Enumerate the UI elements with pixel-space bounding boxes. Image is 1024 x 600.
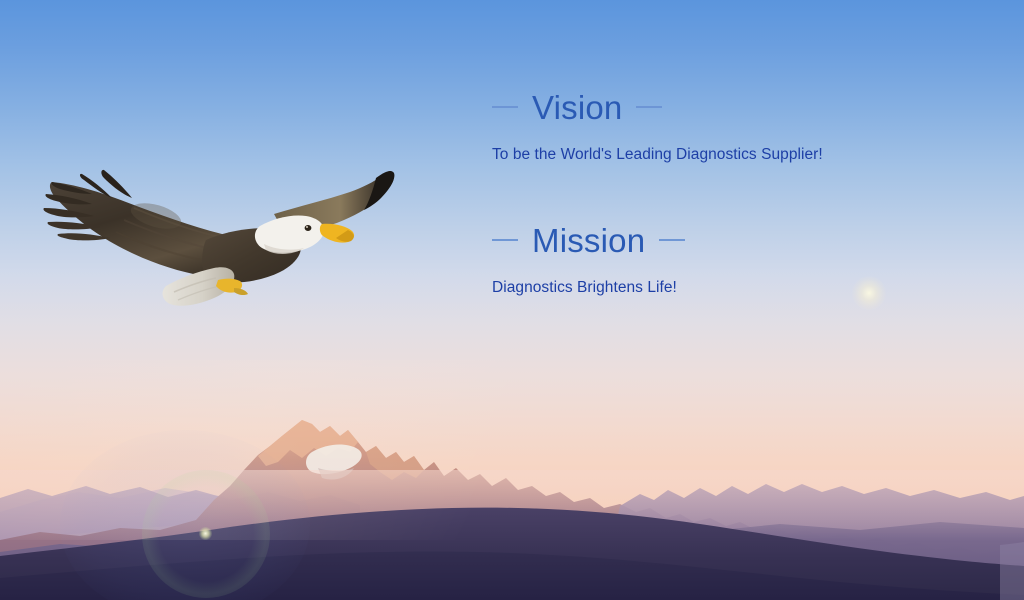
bald-eagle-icon — [38, 168, 400, 316]
mission-heading: Mission — [532, 224, 645, 257]
vision-heading: Vision — [532, 91, 622, 124]
mission-block: Mission Diagnostics Brightens Life! — [492, 219, 962, 297]
mission-dash-right-icon — [659, 239, 685, 241]
vision-heading-row: Vision — [492, 86, 962, 128]
copy-block: Vision To be the World's Leading Diagnos… — [492, 86, 962, 298]
mission-heading-row: Mission — [492, 219, 962, 261]
vision-mission-banner: Vision To be the World's Leading Diagnos… — [0, 0, 1024, 600]
vision-block: Vision To be the World's Leading Diagnos… — [492, 86, 962, 164]
mission-tagline: Diagnostics Brightens Life! — [492, 278, 962, 297]
vision-tagline: To be the World's Leading Diagnostics Su… — [492, 145, 962, 164]
vision-dash-right-icon — [636, 106, 662, 108]
vision-dash-left-icon — [492, 106, 518, 108]
mission-dash-left-icon — [492, 239, 518, 241]
